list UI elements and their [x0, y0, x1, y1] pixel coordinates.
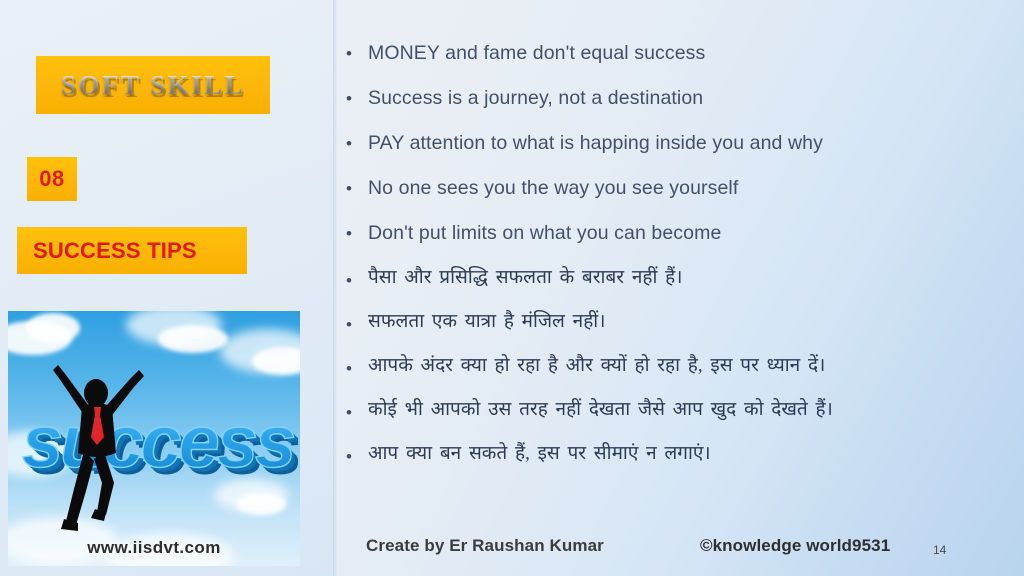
lesson-number-label: 08 — [27, 157, 77, 201]
soft-skill-title: SOFT SKILL — [36, 56, 270, 114]
bullet-dot-icon: • — [346, 307, 368, 333]
list-item: • Don't put limits on what you can becom… — [346, 218, 1012, 263]
topic-label: SUCCESS TIPS — [33, 227, 247, 274]
lesson-number-badge: 08 — [27, 157, 77, 201]
cloud-shape — [236, 493, 286, 515]
bullet-dot-icon: • — [346, 128, 368, 152]
list-item-label: आपके अंदर क्या हो रहा है और क्यों हो रहा… — [368, 351, 1012, 381]
list-item-label: Success is a journey, not a destination — [368, 83, 1012, 113]
slide-canvas: SOFT SKILL SOFT SKILL 08 SUCCESS TIPS — [0, 0, 1024, 576]
list-item: • No one sees you the way you see yourse… — [346, 173, 1012, 218]
page-number: 14 — [933, 543, 946, 557]
list-item: • MONEY and fame don't equal success — [346, 38, 1012, 83]
website-url-caption: www.iisdvt.com — [8, 538, 300, 558]
jumping-man-silhouette — [44, 349, 148, 539]
list-item: • Success is a journey, not a destinatio… — [346, 83, 1012, 128]
list-item-label: No one sees you the way you see yourself — [368, 173, 1012, 203]
bullet-dot-icon: • — [346, 218, 368, 242]
soft-skill-banner: SOFT SKILL SOFT SKILL — [36, 56, 270, 114]
bullet-dot-icon: • — [346, 351, 368, 377]
cloud-shape — [26, 313, 80, 343]
footer-brand: ©knowledge world9531 — [700, 536, 890, 556]
success-illustration: success success success — [8, 311, 300, 566]
bullet-dot-icon: • — [346, 83, 368, 107]
list-item: • आपके अंदर क्या हो रहा है और क्यों हो र… — [346, 351, 1012, 395]
list-item-label: आप क्या बन सकते हैं, इस पर सीमाएं न लगाए… — [368, 439, 1012, 469]
list-item: • पैसा और प्रसिद्धि सफलता के बराबर नहीं … — [346, 263, 1012, 307]
list-item: • PAY attention to what is happing insid… — [346, 128, 1012, 173]
footer-author: Create by Er Raushan Kumar — [366, 536, 604, 556]
bullet-dot-icon: • — [346, 38, 368, 62]
list-item-label: MONEY and fame don't equal success — [368, 38, 1012, 68]
bullet-dot-icon: • — [346, 263, 368, 289]
english-bullet-group: • MONEY and fame don't equal success • S… — [346, 38, 1012, 263]
list-item: • कोई भी आपको उस तरह नहीं देखता जैसे आप … — [346, 395, 1012, 439]
panel-divider — [333, 0, 338, 576]
list-item-label: PAY attention to what is happing inside … — [368, 128, 1012, 158]
bullet-content: • MONEY and fame don't equal success • S… — [346, 38, 1012, 483]
hindi-bullet-group: • पैसा और प्रसिद्धि सफलता के बराबर नहीं … — [346, 263, 1012, 483]
list-item-label: पैसा और प्रसिद्धि सफलता के बराबर नहीं है… — [368, 263, 1012, 293]
list-item: • आप क्या बन सकते हैं, इस पर सीमाएं न लग… — [346, 439, 1012, 483]
list-item: • सफलता एक यात्रा है मंजिल नहीं। — [346, 307, 1012, 351]
cloud-shape — [158, 325, 228, 353]
bullet-dot-icon: • — [346, 173, 368, 197]
list-item-label: कोई भी आपको उस तरह नहीं देखता जैसे आप खु… — [368, 395, 1012, 425]
topic-badge: SUCCESS TIPS — [17, 227, 247, 274]
list-item-label: सफलता एक यात्रा है मंजिल नहीं। — [368, 307, 1012, 337]
bullet-dot-icon: • — [346, 395, 368, 421]
list-item-label: Don't put limits on what you can become — [368, 218, 1012, 248]
bullet-dot-icon: • — [346, 439, 368, 465]
